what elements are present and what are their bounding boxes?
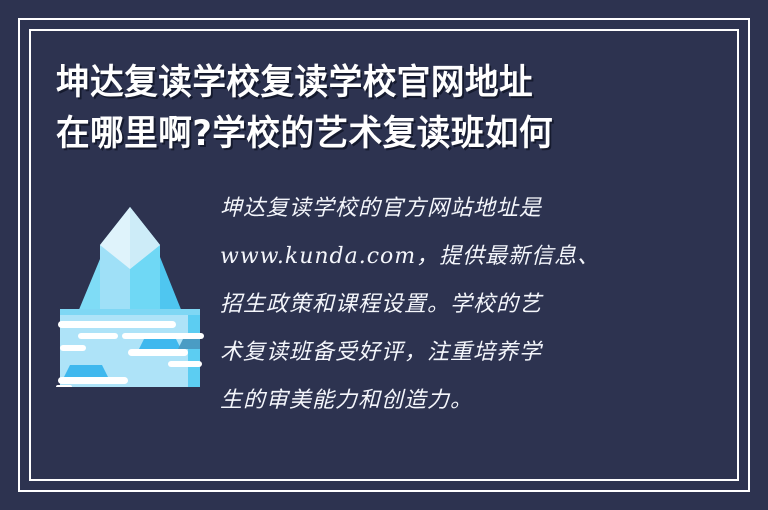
poster-card: 坤达复读学校复读学校官网地址 在哪里啊?学校的艺术复读班如何 <box>0 0 768 510</box>
content-area: 坤达复读学校的官方网站地址是 www.kunda.com，提供最新信息、 招生政… <box>56 185 712 425</box>
body-line-5: 生的审美能力和创造力。 <box>220 377 712 425</box>
iceberg-icon <box>56 197 204 387</box>
body-line-4: 术复读班备受好评，注重培养学 <box>220 329 712 377</box>
page-title: 坤达复读学校复读学校官网地址 在哪里啊?学校的艺术复读班如何 <box>56 58 656 160</box>
iceberg-illustration <box>56 197 204 387</box>
body-text: 坤达复读学校的官方网站地址是 www.kunda.com，提供最新信息、 招生政… <box>220 185 712 425</box>
body-line-2: www.kunda.com，提供最新信息、 <box>220 233 712 281</box>
title-line-2: 在哪里啊?学校的艺术复读班如何 <box>56 109 632 160</box>
body-line-3: 招生政策和课程设置。学校的艺 <box>220 281 712 329</box>
body-line-1: 坤达复读学校的官方网站地址是 <box>220 185 712 233</box>
title-line-1: 坤达复读学校复读学校官网地址 <box>56 58 632 109</box>
